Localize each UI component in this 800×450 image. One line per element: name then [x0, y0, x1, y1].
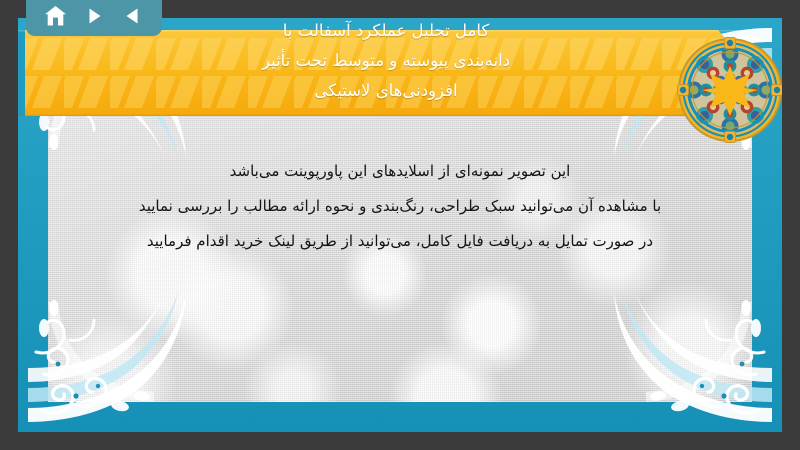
body-line-1: این تصویر نمونه‌ای از اسلایدهای این پاور…: [58, 154, 742, 189]
triangle-left-icon: [123, 6, 143, 26]
title-band: کامل تحلیل عملکرد آسفالت با دانه‌بندی پی…: [18, 30, 738, 116]
body-line-2: با مشاهده آن می‌توانید سبک طراحی، رنگ‌بن…: [58, 189, 742, 224]
title-line-3: افزودنی‌های لاستیکی: [106, 76, 666, 106]
slide-canvas: کامل تحلیل عملکرد آسفالت با دانه‌بندی پی…: [18, 18, 782, 432]
slide-navigation-bar: [26, 0, 162, 36]
title-line-1: کامل تحلیل عملکرد آسفالت با: [106, 18, 666, 46]
body-line-3: در صورت تمایل به دریافت فایل کامل، می‌تو…: [58, 224, 742, 259]
next-slide-button[interactable]: [79, 2, 109, 30]
persian-medallion-ornament: [676, 36, 782, 144]
title-line-2: دانه‌بندی پیوسته و متوسط تحت تأثیر: [106, 46, 666, 76]
triangle-right-icon: [84, 6, 104, 26]
home-icon: [44, 5, 67, 27]
slide-title: کامل تحلیل عملکرد آسفالت با دانه‌بندی پی…: [106, 18, 666, 106]
home-button[interactable]: [40, 2, 70, 30]
slide-body-text: این تصویر نمونه‌ای از اسلایدهای این پاور…: [58, 154, 742, 259]
presentation-viewer: کامل تحلیل عملکرد آسفالت با دانه‌بندی پی…: [0, 0, 800, 450]
previous-slide-button[interactable]: [118, 2, 148, 30]
